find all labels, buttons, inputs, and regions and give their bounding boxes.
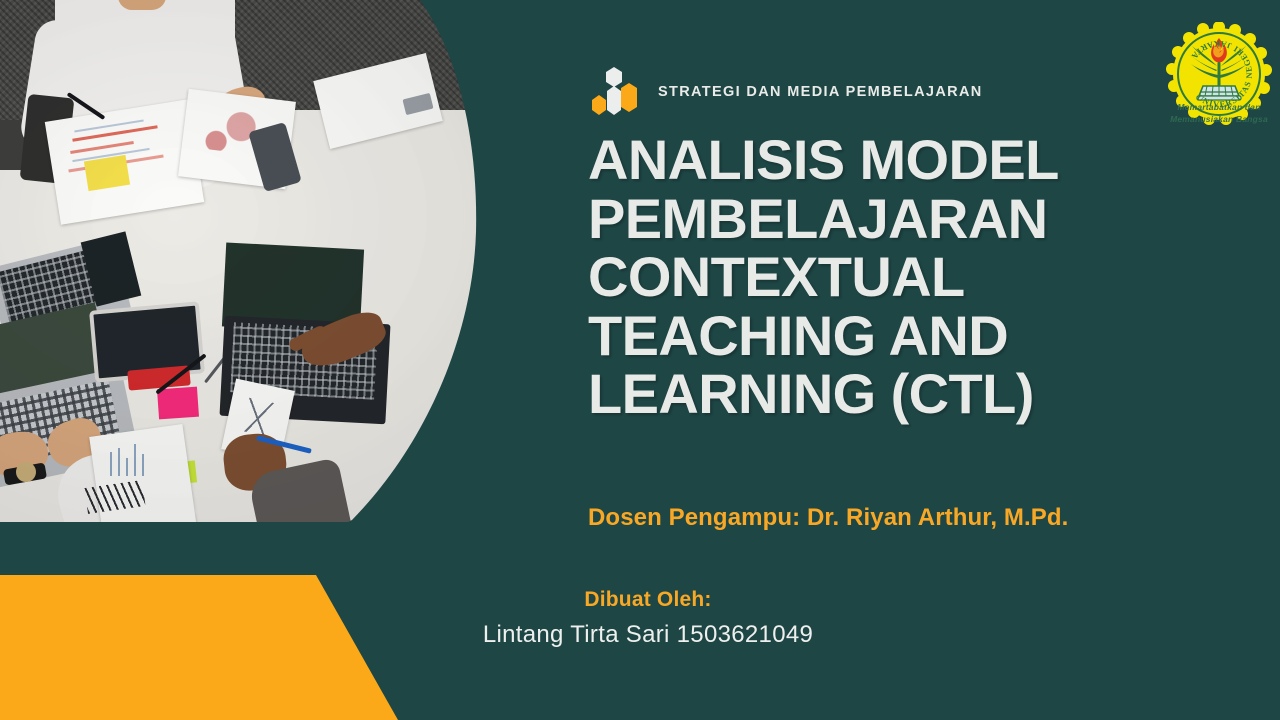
title-line-5: LEARNING (CTL) <box>588 365 1213 424</box>
meeting-photo-scene <box>0 0 500 540</box>
title-line-3: CONTEXTUAL <box>588 248 1213 307</box>
title-line-4: TEACHING AND <box>588 307 1213 366</box>
title-line-2: PEMBELAJARAN <box>588 190 1213 249</box>
page-title: ANALISIS MODEL PEMBELAJARAN CONTEXTUAL T… <box>588 131 1213 424</box>
credit-label: Dibuat Oleh: <box>338 588 958 612</box>
seal-motto-line-2: Memanusiakan Bangsa <box>1155 113 1280 125</box>
credit-block: Dibuat Oleh: Lintang Tirta Sari 15036210… <box>338 588 958 649</box>
photo-grade <box>0 0 500 540</box>
hero-photo-clip <box>0 0 500 540</box>
credit-author-name: Lintang Tirta Sari 1503621049 <box>338 621 958 649</box>
course-label: STRATEGI DAN MEDIA PEMBELAJARAN <box>658 84 983 100</box>
hero-photo <box>0 0 500 540</box>
lecturer-line: Dosen Pengampu: Dr. Riyan Arthur, M.Pd. <box>588 504 1068 532</box>
presentation-slide: STRATEGI DAN MEDIA PEMBELAJARAN ANALISIS… <box>0 0 1280 720</box>
seal-motto: Memartabatkan dan Memanusiakan Bangsa <box>1155 101 1280 126</box>
brand-row: STRATEGI DAN MEDIA PEMBELAJARAN <box>588 66 983 118</box>
hexagon-cluster-logo-icon <box>588 66 640 118</box>
title-line-1: ANALISIS MODEL <box>588 131 1213 190</box>
seal-motto-line-1: Memartabatkan dan <box>1155 101 1280 113</box>
